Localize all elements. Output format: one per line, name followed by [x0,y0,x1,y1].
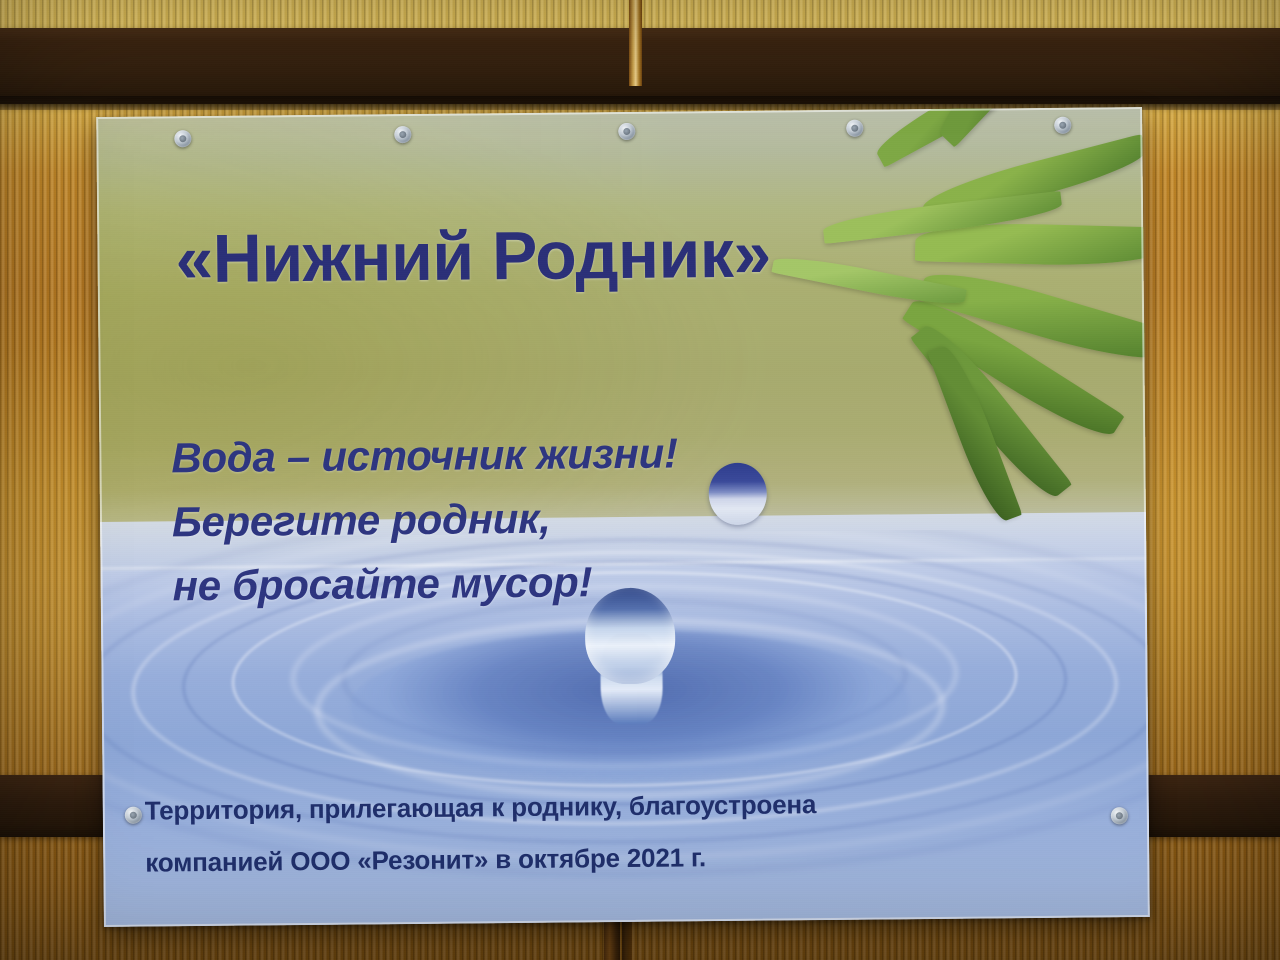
vertical-post-upper [629,0,642,86]
information-sign-board: «Нижний Родник» Вода – источник жизни! Б… [96,107,1150,927]
sign-edge [96,107,1150,927]
photo-scene: «Нижний Родник» Вода – источник жизни! Б… [0,0,1280,960]
